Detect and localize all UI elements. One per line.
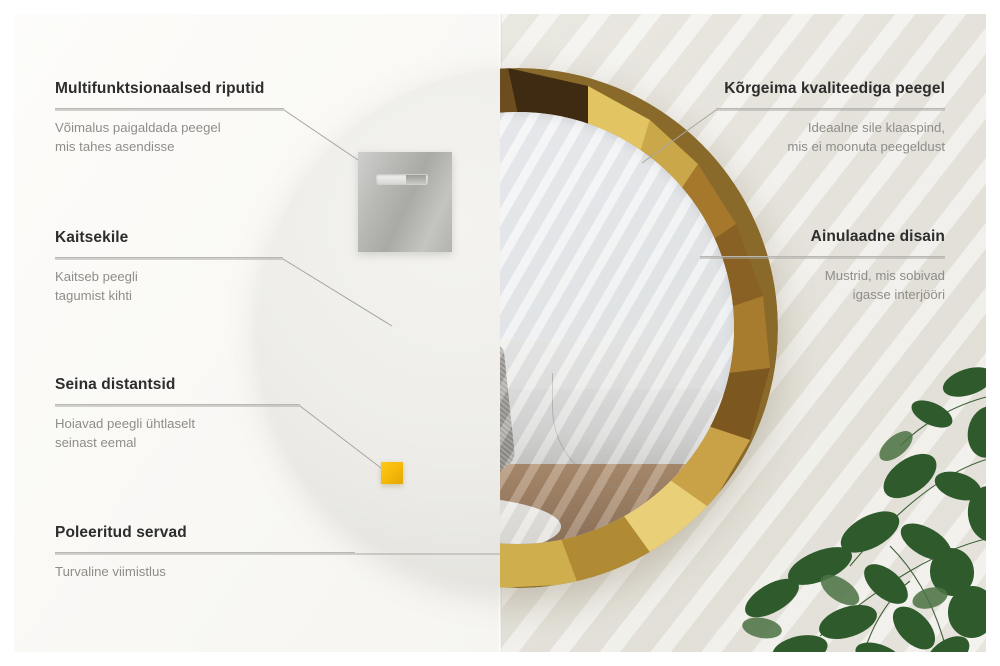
feature-unique-design-rule <box>700 256 945 257</box>
feature-protective-film-rule <box>55 257 283 258</box>
feature-wall-spacers: Seina distantsid Hoiavad peegli ühtlasel… <box>55 376 300 452</box>
feature-hangers: Multifunktsionaalsed riputid Võimalus pa… <box>55 80 284 156</box>
reflected-sofa-seat <box>500 389 725 464</box>
feature-polished-edges-desc: Turvaline viimistlus <box>55 562 355 581</box>
reflected-wood-floor <box>500 444 734 544</box>
feature-polished-edges-rule <box>55 552 355 553</box>
feature-polished-edges-title: Poleeritud servad <box>55 524 355 543</box>
feature-unique-design-title: Ainulaadne disain <box>700 228 945 247</box>
reflected-lamp-wire <box>552 373 665 489</box>
foliage-decoration <box>700 336 1000 666</box>
feature-protective-film-title: Kaitsekile <box>55 229 283 248</box>
reflected-knit-throw <box>500 340 516 488</box>
hanger-keyhole-slot <box>376 174 428 185</box>
mirror-back-disc <box>258 68 500 588</box>
feature-quality-mirror-desc: Ideaalne sile klaaspind, mis ei moonuta … <box>716 118 945 156</box>
hanger-plate <box>358 152 452 252</box>
reflected-room-scene <box>500 293 734 544</box>
feature-wall-spacers-title: Seina distantsid <box>55 376 300 395</box>
feature-quality-mirror-title: Kõrgeima kvaliteediga peegel <box>716 80 945 99</box>
feature-unique-design: Ainulaadne disain Mustrid, mis sobivad i… <box>700 228 945 304</box>
feature-polished-edges: Poleeritud servad Turvaline viimistlus <box>55 524 355 581</box>
feature-wall-spacers-rule <box>55 404 300 405</box>
reflected-rug <box>500 494 561 544</box>
feature-hangers-desc: Võimalus paigaldada peegel mis tahes ase… <box>55 118 284 156</box>
feature-quality-mirror-rule <box>716 108 945 109</box>
feature-hangers-rule <box>55 108 284 109</box>
feature-unique-design-desc: Mustrid, mis sobivad igasse interjööri <box>700 266 945 304</box>
reflected-sofa-back <box>500 339 717 424</box>
feature-hangers-title: Multifunktsionaalsed riputid <box>55 80 284 99</box>
wall-spacer-block <box>381 462 403 484</box>
feature-wall-spacers-desc: Hoiavad peegli ühtlaselt seinast eemal <box>55 414 300 452</box>
infographic-canvas: Multifunktsionaalsed riputid Võimalus pa… <box>0 0 1000 666</box>
feature-protective-film-desc: Kaitseb peegli tagumist kihti <box>55 267 283 305</box>
feature-quality-mirror: Kõrgeima kvaliteediga peegel Ideaalne si… <box>716 80 945 156</box>
feature-protective-film: Kaitsekile Kaitseb peegli tagumist kihti <box>55 229 283 305</box>
mirror-glass-surface <box>500 112 734 544</box>
